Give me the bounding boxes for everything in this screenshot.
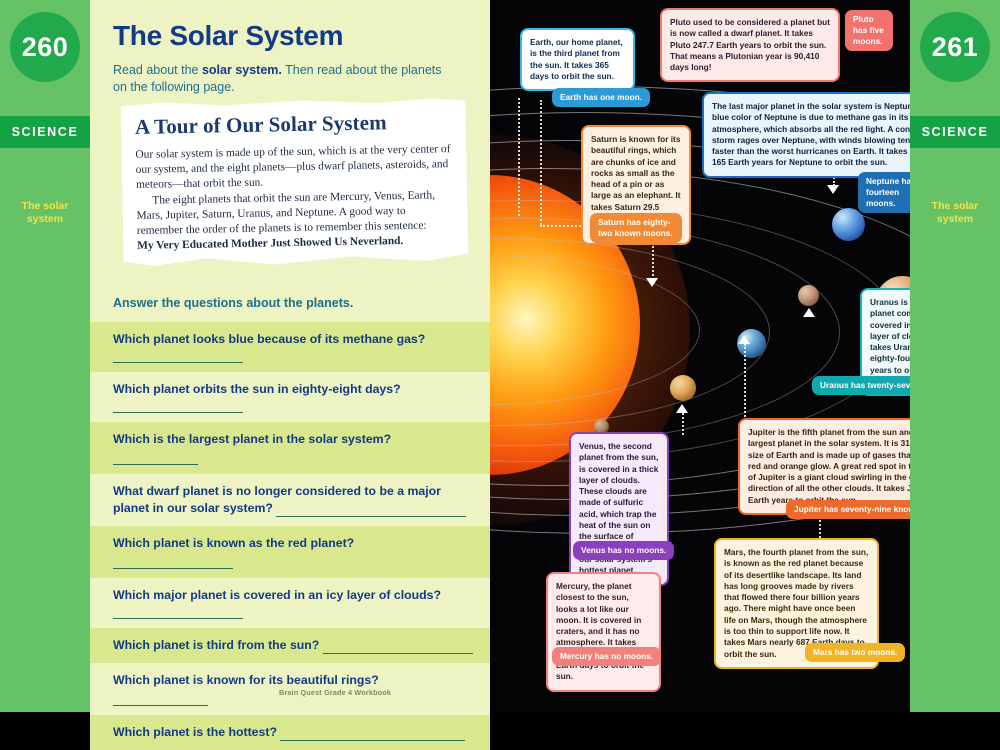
- callout-mercury-text: , the planet closest to the sun, looks a…: [556, 581, 644, 681]
- question-row: Which is the largest planet in the solar…: [90, 422, 490, 474]
- left-rail-topic: The solar system: [4, 200, 86, 226]
- answer-blank[interactable]: [113, 557, 233, 569]
- question-text: Which planet orbits the sun in eighty-ei…: [113, 381, 476, 398]
- right-rail-topic: The solar system: [914, 200, 996, 226]
- planet-mars: [798, 285, 819, 306]
- callout-pluto-text: used to be considered a planet but is no…: [670, 17, 830, 72]
- answer-blank[interactable]: [323, 642, 473, 654]
- moon-tag-pluto: Pluto has five moons.: [845, 10, 893, 51]
- right-page-number: 261: [920, 12, 990, 82]
- subtitle-bold: solar system.: [202, 63, 282, 77]
- question-text: Which planet looks blue because of its m…: [113, 331, 476, 348]
- article-body: Our solar system is made up of the sun, …: [135, 142, 453, 254]
- question-list: Which planet looks blue because of its m…: [90, 322, 490, 750]
- callout-saturn-name: Saturn: [591, 134, 617, 144]
- answer-blank[interactable]: [113, 402, 243, 413]
- left-page-content: The Solar System Read about the solar sy…: [90, 0, 490, 712]
- callout-mars-name: Mars: [724, 547, 743, 557]
- arrow-earth-down: [738, 335, 750, 344]
- question-row: Which planet looks blue because of its m…: [90, 322, 490, 372]
- page-subtitle: Read about the solar system. Then read a…: [113, 62, 443, 96]
- right-page: Earth, our home planet, is the third pla…: [490, 0, 1000, 712]
- article-title: A Tour of Our Solar System: [135, 110, 387, 140]
- question-row: Which planet is the hottest?: [90, 715, 490, 750]
- answer-blank[interactable]: [113, 453, 198, 465]
- callout-uranus-name: Uranus: [870, 297, 899, 307]
- planet-venus: [670, 375, 696, 401]
- answer-blank[interactable]: [276, 505, 466, 517]
- moon-tag-mercury: Mercury has no moons.: [552, 647, 661, 666]
- moon-tag-venus: Venus has no moons.: [573, 541, 674, 560]
- callout-mercury-name: Mercury: [556, 581, 588, 591]
- arrow-mars: [803, 308, 815, 317]
- right-sidebar-rail: 261 SCIENCE The solar system: [910, 0, 1000, 712]
- subtitle-pre: Read about the: [113, 63, 202, 77]
- question-row: Which major planet is covered in an icy …: [90, 578, 490, 628]
- connector-venus-v: [682, 413, 684, 435]
- question-row: Which planet is known as the red planet?: [90, 526, 490, 578]
- answer-blank[interactable]: [280, 729, 465, 741]
- article-paragraph-1: Our solar system is made up of the sun, …: [135, 142, 452, 193]
- callout-mercury: Mercury, the planet closest to the sun, …: [546, 572, 661, 692]
- workbook-spread: 260 SCIENCE The solar system The Solar S…: [0, 0, 1000, 712]
- question-row: Which planet orbits the sun in eighty-ei…: [90, 372, 490, 422]
- right-subject-band: SCIENCE: [910, 116, 1000, 148]
- callout-mars-text: , the fourth planet from the sun, is kno…: [724, 547, 868, 659]
- question-row: Which planet is third from the sun?: [90, 628, 490, 663]
- left-page: 260 SCIENCE The solar system The Solar S…: [0, 0, 490, 712]
- exercise-instruction: Answer the questions about the planets.: [113, 296, 353, 310]
- moon-tag-mars: Mars has two moons.: [805, 643, 905, 662]
- arrow-neptune: [827, 185, 839, 194]
- callout-venus-name: Venus: [579, 441, 603, 451]
- question-text: Which is the largest planet in the solar…: [113, 431, 476, 465]
- question-text: Which planet is known as the red planet?: [113, 535, 476, 569]
- question-row: What dwarf planet is no longer considere…: [90, 474, 490, 526]
- question-text: Which major planet is covered in an icy …: [113, 587, 476, 604]
- left-subject-band: SCIENCE: [0, 116, 90, 148]
- planet-neptune: [832, 208, 865, 241]
- answer-blank[interactable]: [113, 608, 243, 619]
- left-sidebar-rail: 260 SCIENCE The solar system: [0, 0, 90, 712]
- article-card: A Tour of Our Solar System Our solar sys…: [121, 97, 469, 268]
- moon-tag-earth: Earth has one moon.: [552, 88, 650, 107]
- connector-mercury-v1: [540, 100, 542, 225]
- connector-earth-v1: [518, 98, 520, 216]
- question-text: Which planet is third from the sun?: [113, 637, 476, 654]
- callout-venus: Venus, the second planet from the sun, i…: [569, 432, 669, 586]
- callout-pluto-name: Pluto: [670, 17, 691, 27]
- arrow-venus: [676, 404, 688, 413]
- callout-jupiter-name: Jupiter: [748, 427, 776, 437]
- callout-earth: Earth, our home planet, is the third pla…: [520, 28, 635, 91]
- answer-blank[interactable]: [113, 352, 243, 363]
- callout-earth-name: Earth: [530, 37, 551, 47]
- callout-neptune-pre: The last major planet in the solar syste…: [712, 101, 884, 111]
- article-paragraph-2: The eight planets that orbit the sun are…: [136, 188, 453, 239]
- arrow-saturn: [646, 278, 658, 287]
- callout-pluto: Pluto used to be considered a planet but…: [660, 8, 840, 82]
- moon-tag-saturn: Saturn has eighty-two known moons.: [590, 213, 682, 243]
- page-title: The Solar System: [113, 20, 343, 52]
- question-text: What dwarf planet is no longer considere…: [113, 483, 476, 517]
- left-page-number: 260: [10, 12, 80, 82]
- question-text: Which planet is the hottest?: [113, 724, 476, 741]
